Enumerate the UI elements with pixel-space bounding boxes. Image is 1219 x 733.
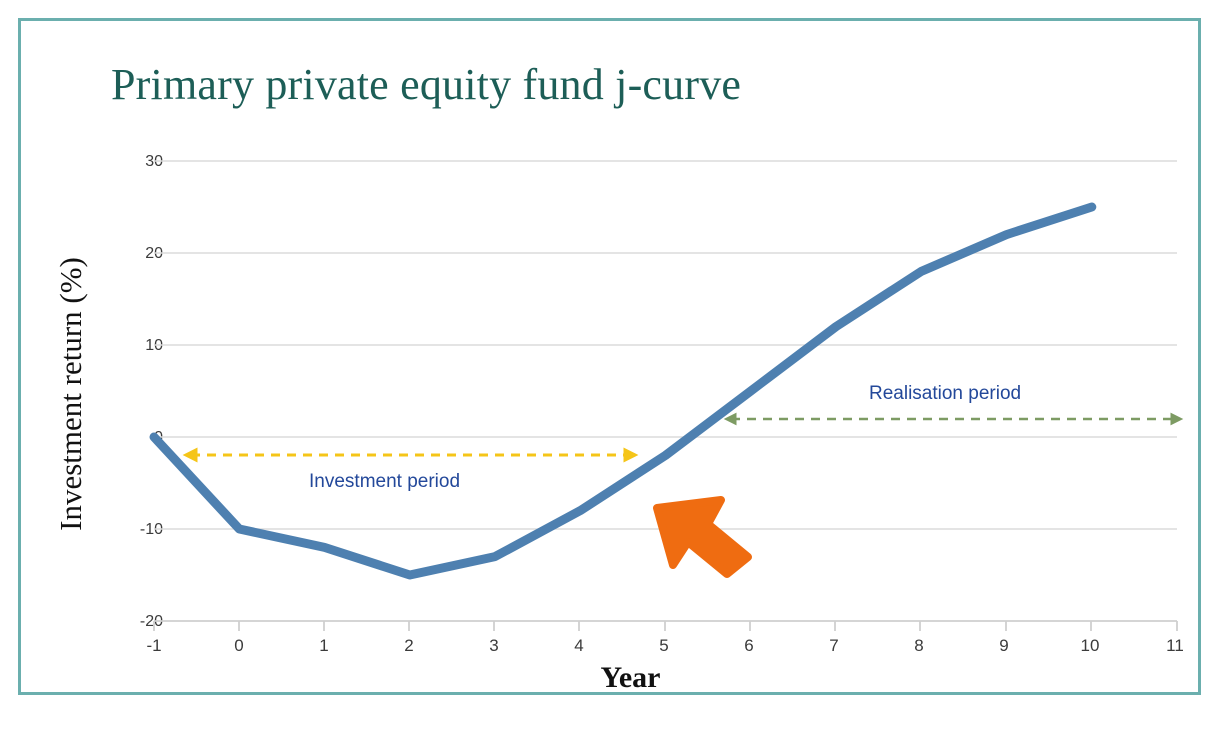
x-axis (154, 621, 1177, 631)
chart-card: Primary private equity fund j-curve Inve… (18, 18, 1201, 695)
series-line-jcurve (154, 207, 1092, 575)
chart-page: Primary private equity fund j-curve Inve… (0, 0, 1219, 733)
mouse-cursor-icon (657, 500, 748, 574)
plot-area (21, 21, 1219, 733)
gridlines (154, 161, 1177, 529)
